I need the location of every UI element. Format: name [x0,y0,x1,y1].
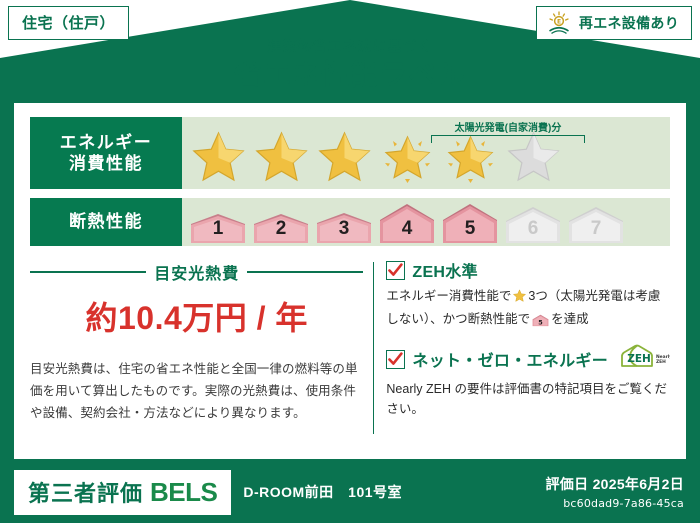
insulation-grade-4: 4 [377,200,437,244]
bels-en-label: BELS [150,477,217,508]
grade-number: 6 [503,218,563,240]
cost-note: 目安光熱費は、住宅の省エネ性能と全国一律の燃料等の単価を用いて算出したものです。… [30,359,363,425]
insulation-grade-6: 6 [503,202,563,244]
grade-number: 3 [314,218,374,240]
title-subtitle: 建築物省エネ法に基づく [0,38,700,55]
page-title: 省エネ性能ラベル [0,57,700,93]
energy-stars-area: 太陽光発電(自家消費)分 [182,117,670,189]
rule-right [247,271,363,273]
sun-solar-icon: E [546,11,572,35]
zeh-netzero-text: Nearly ZEH の要件は評価書の特記項目をご覧ください。 [386,379,670,420]
solar-bracket: 太陽光発電(自家消費)分 [431,119,585,143]
zeh-text-part1: エネルギー消費性能で [386,289,511,303]
main-card: エネルギー 消費性能 [14,103,686,459]
solar-bracket-line [431,135,585,143]
cost-panel: 目安光熱費 約10.4万円 / 年 目安光熱費は、住宅の省エネ性能と全国一律の燃… [30,258,373,444]
energy-performance-label: 住宅（住戸） E 再エネ設備あり 建築物省エネ法に基づく 省エネ性能ラベル [0,0,700,523]
star-1-filled [188,127,249,185]
insulation-performance-label: 断熱性能 [30,198,182,246]
star-4-filled-solar [377,127,438,185]
checkbox-checked-icon [386,350,405,369]
svg-text:ZEH: ZEH [656,359,666,365]
star-2-filled [251,127,312,185]
grade-number: 1 [188,218,248,240]
insulation-grade-7: 7 [566,202,626,244]
zeh-item-net-zero: ネット・ゼロ・エネルギー ZEH Nearly ZEH Nearly ZEH の… [386,344,670,420]
title-block: 建築物省エネ法に基づく 省エネ性能ラベル [0,38,700,93]
svg-text:5: 5 [538,319,543,327]
zeh-panel: ZEH水準 エネルギー消費性能で3つ（太陽光発電は考慮しない）、かつ断熱性能で5… [386,258,670,444]
evaluation-uid: bc60dad9-7a86-45ca [545,497,684,510]
renewable-badge-label: 再エネ設備あり [579,13,679,33]
svg-text:E: E [557,19,561,26]
lower-section: 目安光熱費 約10.4万円 / 年 目安光熱費は、住宅の省エネ性能と全国一律の燃… [30,258,670,444]
insulation-grades-area: 1 2 [182,198,670,246]
zeh-item-standard: ZEH水準 エネルギー消費性能で3つ（太陽光発電は考慮しない）、かつ断熱性能で5… [386,258,670,334]
footer-meta: 評価日 2025年6月2日 bc60dad9-7a86-45ca [545,474,684,510]
insulation-grade-list: 1 2 [188,200,626,244]
grade-number: 5 [440,218,500,240]
zeh-netzero-title: ネット・ゼロ・エネルギー [412,347,608,371]
bels-jp-label: 第三者評価 [28,476,143,508]
footer: 第三者評価 BELS D-ROOM前田 101号室 評価日 2025年6月2日 … [0,461,700,523]
insulation-grade-3: 3 [314,206,374,244]
grade-number: 7 [566,218,626,240]
insulation-performance-row: 断熱性能 1 [30,198,670,246]
energy-performance-row: エネルギー 消費性能 [30,117,670,189]
zeh-standard-text: エネルギー消費性能で3つ（太陽光発電は考慮しない）、かつ断熱性能で5を達成 [386,286,670,334]
zeh-star-count: 3つ [528,289,547,303]
inline-star-icon [512,292,527,306]
vertical-divider [373,262,374,434]
zeh-heading-row: ZEH水準 [386,258,670,282]
renewable-equipment-badge: E 再エネ設備あり [536,6,692,40]
rule-left [30,271,146,273]
housing-type-badge: 住宅（住戸） [8,6,129,40]
evaluation-date: 評価日 2025年6月2日 [545,474,684,494]
checkbox-checked-icon [386,261,405,280]
cost-heading: 目安光熱費 [154,260,239,284]
insulation-grade-1: 1 [188,206,248,244]
grade-number: 2 [251,218,311,240]
bels-badge: 第三者評価 BELS [14,470,231,515]
star-3-filled [314,127,375,185]
cost-value: 約10.4万円 / 年 [30,293,363,339]
inline-house-badge-icon: 5 [532,316,549,330]
energy-performance-label: エネルギー 消費性能 [30,117,182,189]
property-address: D-ROOM前田 101号室 [243,482,402,502]
insulation-grade-2: 2 [251,206,311,244]
zeh-standard-title: ZEH水準 [412,258,478,282]
insulation-grade-5: 5 [440,200,500,244]
zeh-house-logo-icon: ZEH Nearly ZEH [618,344,670,375]
solar-caption: 太陽光発電(自家消費)分 [431,119,585,134]
cost-heading-row: 目安光熱費 [30,260,363,284]
zeh-text-part3: を達成 [551,312,589,326]
zeh-heading-row: ネット・ゼロ・エネルギー ZEH Nearly ZEH [386,344,670,375]
grade-number: 4 [377,218,437,240]
svg-text:ZEH: ZEH [627,353,651,365]
